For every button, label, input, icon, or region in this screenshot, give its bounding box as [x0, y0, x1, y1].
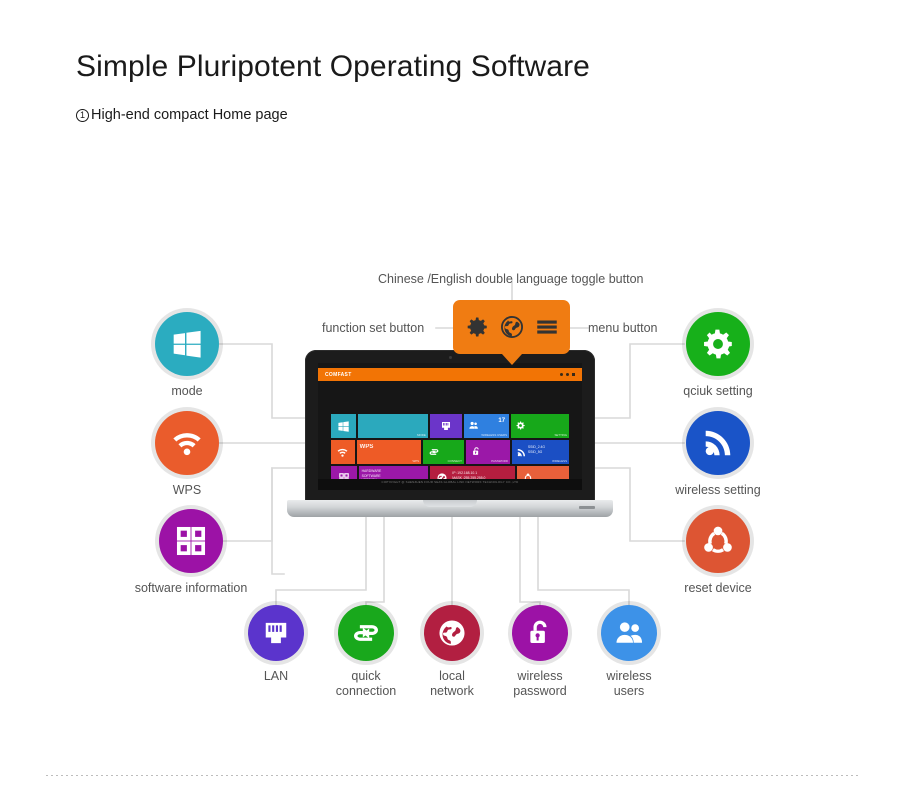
- topbar-controls[interactable]: [560, 373, 575, 376]
- bottom-divider: [46, 775, 858, 776]
- laptop-base-port: [579, 506, 595, 509]
- wireless-setting-bubble[interactable]: [686, 411, 750, 475]
- page-title: Simple Pluripotent Operating Software: [76, 50, 590, 84]
- qciuk-setting-corner: SETTING: [554, 433, 567, 437]
- users-icon: [613, 617, 645, 649]
- tile-row-2: WPS WPS CONNECT: [331, 440, 569, 464]
- wireless-password-label: wireless password: [498, 669, 582, 700]
- callout-left-label: function set button: [322, 321, 424, 335]
- node-mode[interactable]: mode: [123, 312, 251, 399]
- node-wireless-users[interactable]: wireless users: [587, 605, 671, 700]
- callout-top-label: Chinese /English double language toggle …: [378, 272, 644, 286]
- grid-icon: [174, 524, 208, 558]
- wifi-icon: [169, 425, 205, 461]
- node-lan[interactable]: LAN: [234, 605, 318, 684]
- subtitle-row: 1 High-end compact Home page: [76, 107, 288, 123]
- wireless-password-bubble[interactable]: [512, 605, 568, 661]
- local-network-label: local network: [410, 669, 494, 700]
- unlock-icon: [471, 446, 482, 457]
- windows-icon: [170, 327, 204, 361]
- brand-logo: COMFAST: [325, 371, 352, 377]
- qciuk-setting-label: qciuk setting: [654, 384, 782, 399]
- node-quick-connection[interactable]: quick connection: [324, 605, 408, 700]
- subtitle-text: High-end compact Home page: [91, 107, 288, 123]
- windows-icon: [337, 420, 350, 433]
- lan-label: LAN: [234, 669, 318, 684]
- reset-device-label: reset device: [654, 581, 782, 596]
- wireless-setting-label: SSID_2.4GSSID_5G: [528, 445, 545, 454]
- laptop-camera: [449, 356, 452, 359]
- laptop-base: [287, 500, 613, 517]
- page-root: Simple Pluripotent Operating Software 1 …: [0, 0, 900, 790]
- refresh-icon: [428, 446, 440, 458]
- node-wireless-password[interactable]: wireless password: [498, 605, 582, 700]
- mode-label: mode: [123, 384, 251, 399]
- toolbar-callout[interactable]: [453, 300, 570, 354]
- wireless-users-corner: WIRELESS USERS: [481, 433, 507, 437]
- unlock-icon: [525, 618, 555, 648]
- ethernet-icon: [440, 420, 452, 432]
- quick-connection-label: quick connection: [324, 669, 408, 700]
- tile-row-1: MODE: [331, 414, 569, 438]
- topbar-dot-3[interactable]: [572, 373, 575, 376]
- node-qciuk-setting[interactable]: qciuk setting: [654, 312, 782, 399]
- wireless-users-bubble[interactable]: [601, 605, 657, 661]
- software-information-label: software information: [123, 581, 259, 596]
- wps-tile-label: WPS: [360, 443, 374, 451]
- users-icon: [468, 420, 479, 431]
- mode-tile[interactable]: [331, 414, 356, 438]
- reset-icon: [700, 523, 736, 559]
- node-reset-device[interactable]: reset device: [654, 509, 782, 596]
- gear-icon: [515, 420, 526, 431]
- lan-bubble[interactable]: [248, 605, 304, 661]
- mode-bubble[interactable]: [155, 312, 219, 376]
- node-software-information[interactable]: software information: [123, 509, 259, 596]
- gear-icon: [700, 326, 736, 362]
- wireless-password-corner: PASSWORD: [491, 459, 508, 463]
- quick-connection-corner: CONNECT: [448, 459, 462, 463]
- lan-tile[interactable]: [430, 414, 462, 438]
- local-network-bubble[interactable]: [424, 605, 480, 661]
- circled-number-badge: 1: [76, 109, 89, 122]
- node-wps[interactable]: WPS: [123, 411, 251, 498]
- mode-tile-corner: MODE: [417, 433, 426, 437]
- wps-wide-tile[interactable]: WPS WPS: [357, 440, 421, 464]
- refresh-icon: [350, 617, 382, 649]
- wireless-users-count: 17: [498, 418, 505, 424]
- topbar-dot-1[interactable]: [560, 373, 563, 376]
- wireless-setting-corner: WIRELESS: [552, 459, 567, 463]
- laptop-lid: COMFAST: [305, 350, 595, 502]
- node-wireless-setting[interactable]: wireless setting: [654, 411, 782, 498]
- wireless-setting-tile[interactable]: SSID_2.4GSSID_5G WIRELESS: [512, 440, 569, 464]
- callout-right-label: menu button: [588, 321, 658, 335]
- wifi-icon: [336, 446, 349, 459]
- hamburger-menu-icon[interactable]: [534, 314, 560, 340]
- software-information-bubble[interactable]: [159, 509, 223, 573]
- rss-wireless-icon: [516, 447, 527, 458]
- wireless-users-tile[interactable]: 17 WIRELESS USERS: [464, 414, 509, 438]
- laptop-screen: COMFAST: [318, 363, 582, 490]
- reset-device-bubble[interactable]: [686, 509, 750, 573]
- rss-wireless-icon: [700, 425, 736, 461]
- quick-connection-bubble[interactable]: [338, 605, 394, 661]
- qciuk-setting-tile[interactable]: SETTING: [511, 414, 569, 438]
- wireless-setting-label: wireless setting: [654, 483, 782, 498]
- mode-wide-tile[interactable]: MODE: [358, 414, 427, 438]
- quick-connection-tile[interactable]: CONNECT: [423, 440, 464, 464]
- globe-icon: [436, 617, 468, 649]
- screen-footer-text: COPYRIGHT @ SHENZHEN FOUR SEAS GLOBAL LI…: [318, 480, 582, 484]
- laptop-mockup: COMFAST: [287, 350, 613, 520]
- wps-tile[interactable]: [331, 440, 355, 464]
- wps-tile-corner: WPS: [413, 459, 420, 463]
- ethernet-icon: [261, 618, 291, 648]
- diagram-stage: Chinese /English double language toggle …: [0, 150, 900, 730]
- node-local-network[interactable]: local network: [410, 605, 494, 700]
- wps-bubble[interactable]: [155, 411, 219, 475]
- qciuk-setting-bubble[interactable]: [686, 312, 750, 376]
- gear-icon[interactable]: [464, 314, 490, 340]
- wps-label: WPS: [123, 483, 251, 498]
- app-topbar: COMFAST: [318, 368, 582, 381]
- wireless-users-label: wireless users: [587, 669, 671, 700]
- wireless-password-tile[interactable]: PASSWORD: [466, 440, 510, 464]
- topbar-dot-2[interactable]: [566, 373, 569, 376]
- globe-icon[interactable]: [499, 314, 525, 340]
